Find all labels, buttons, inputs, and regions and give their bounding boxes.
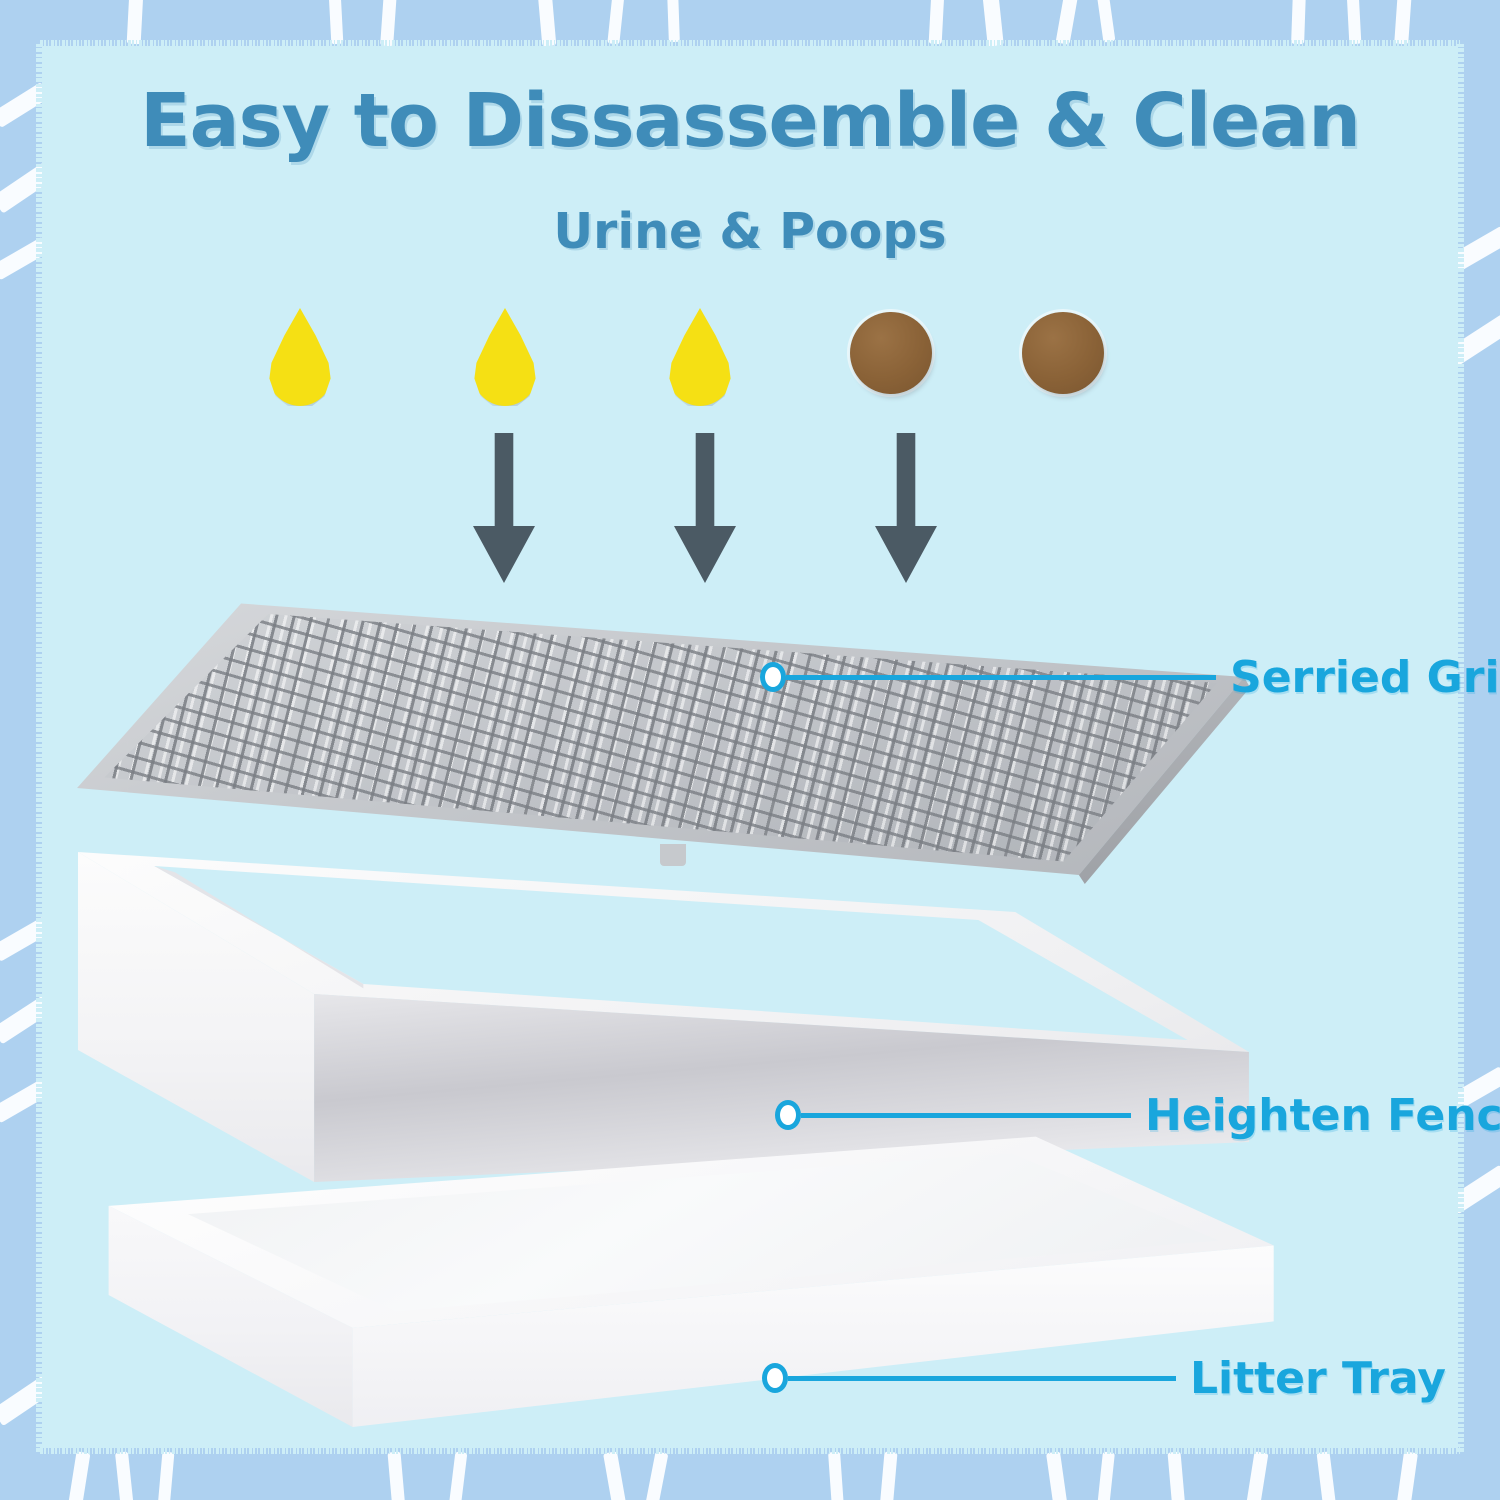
callout-litter-tray[interactable]: Litter Tray	[762, 1355, 1446, 1401]
product-infographic: Easy to Dissassemble & Clean Urine & Poo…	[0, 0, 1500, 1500]
serried-grid-part	[70, 596, 1250, 896]
brush-stroke-top-12	[1347, 0, 1362, 44]
litter-tray-part	[72, 1130, 1292, 1460]
grid-foot-1	[660, 844, 686, 866]
brush-stroke-top-1	[127, 0, 144, 44]
callout-label-litter-tray: Litter Tray	[1190, 1353, 1446, 1404]
callout-serried-grid[interactable]: Serried Grid	[760, 654, 1500, 700]
poop-icon-2	[1022, 312, 1104, 394]
brush-stroke-top-11	[1291, 0, 1306, 44]
callout-marker-dot-heighten-fence	[775, 1100, 801, 1130]
callout-leader-line-litter-tray	[788, 1376, 1176, 1381]
brush-stroke-top-6	[667, 0, 680, 42]
callout-heighten-fence[interactable]: Heighten Fence	[775, 1092, 1500, 1138]
callout-label-serried-grid: Serried Grid	[1230, 652, 1500, 703]
callout-marker-dot-litter-tray	[762, 1363, 788, 1393]
page-title: Easy to Dissassemble & Clean	[0, 78, 1500, 164]
page-subtitle: Urine & Poops	[0, 203, 1500, 260]
poop-icon-1	[850, 312, 932, 394]
brush-stroke-top-2	[329, 0, 344, 44]
callout-leader-line-heighten-fence	[801, 1113, 1131, 1118]
callout-marker-dot-serried-grid	[760, 662, 786, 692]
callout-leader-line-serried-grid	[786, 675, 1216, 680]
callout-label-heighten-fence: Heighten Fence	[1145, 1090, 1500, 1141]
